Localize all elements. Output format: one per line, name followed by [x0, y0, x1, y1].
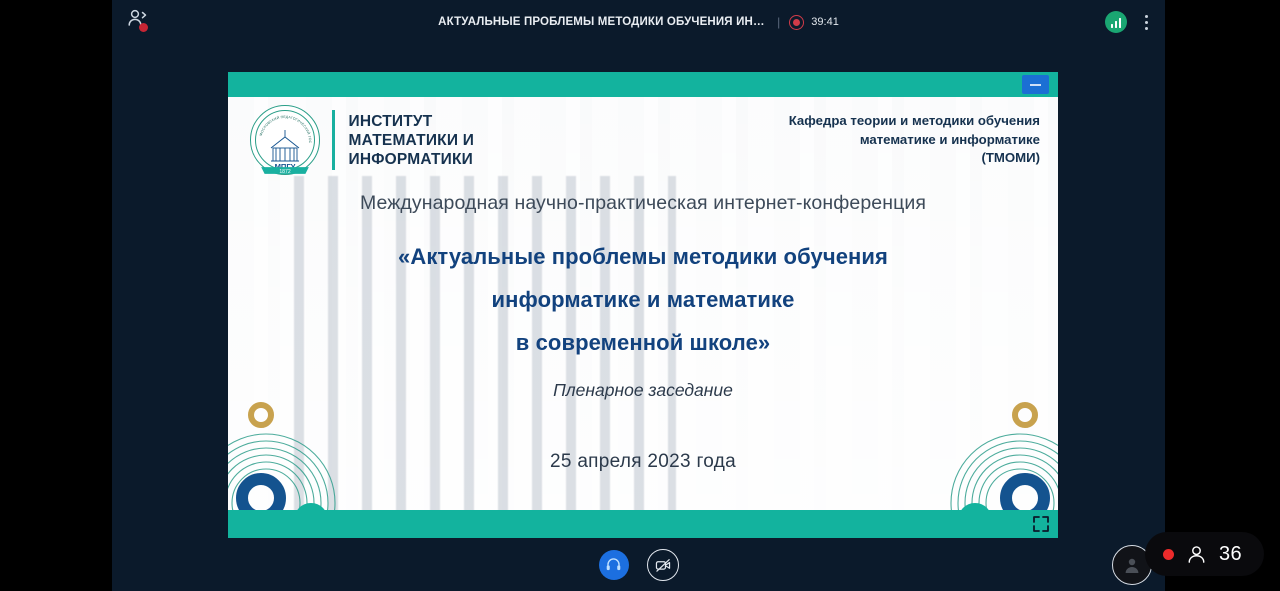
audio-button[interactable]	[599, 550, 629, 580]
recording-icon	[789, 15, 804, 30]
conference-title: «Актуальные проблемы методики обучения и…	[288, 235, 998, 364]
more-vertical-icon[interactable]	[1137, 11, 1155, 33]
shared-slide[interactable]: МОСКОВСКИЙ ПЕДАГОГИЧЕСКИЙ ГОС. МПГУ	[228, 72, 1058, 538]
seal-ribbon-icon: 1872	[254, 162, 316, 179]
fullscreen-expand-button[interactable]	[1032, 515, 1050, 533]
participants-pill[interactable]: 36	[1145, 532, 1264, 576]
meeting-title-group: АКТУАЛЬНЫЕ ПРОБЛЕМЫ МЕТОДИКИ ОБУЧЕНИЯ ИН…	[112, 0, 1165, 44]
headphones-icon	[605, 556, 622, 573]
svg-text:1872: 1872	[279, 169, 290, 175]
recording-status: 39:41	[789, 15, 839, 30]
mpgu-seal-logo: МОСКОВСКИЙ ПЕДАГОГИЧЕСКИЙ ГОС. МПГУ	[250, 105, 320, 175]
conference-subtitle: Пленарное заседание	[288, 380, 998, 401]
recording-timer: 39:41	[811, 16, 839, 28]
meeting-controls	[112, 538, 1165, 591]
title-divider: |	[777, 15, 780, 29]
top-bar: АКТУАЛЬНЫЕ ПРОБЛЕМЫ МЕТОДИКИ ОБУЧЕНИЯ ИН…	[112, 0, 1165, 44]
conference-date: 25 апреля 2023 года	[288, 451, 998, 473]
meeting-app: АКТУАЛЬНЫЕ ПРОБЛЕМЫ МЕТОДИКИ ОБУЧЕНИЯ ИН…	[112, 0, 1165, 591]
slide-top-band	[228, 72, 1058, 97]
notification-badge-dot	[139, 23, 148, 32]
slide-body: Международная научно-практическая интерн…	[228, 192, 1058, 473]
slide-bottom-band	[228, 510, 1058, 538]
slide-header: МОСКОВСКИЙ ПЕДАГОГИЧЕСКИЙ ГОС. МПГУ	[228, 97, 1058, 183]
fullscreen-expand-icon	[1032, 515, 1050, 533]
person-icon	[1186, 544, 1207, 565]
meeting-title: АКТУАЛЬНЫЕ ПРОБЛЕМЫ МЕТОДИКИ ОБУЧЕНИЯ ИН…	[438, 16, 768, 28]
recording-dot	[1163, 549, 1174, 560]
department-name: Кафедра теории и методики обучения матем…	[789, 112, 1040, 168]
minimize-button[interactable]	[1022, 75, 1049, 94]
letterbox-stage: АКТУАЛЬНЫЕ ПРОБЛЕМЫ МЕТОДИКИ ОБУЧЕНИЯ ИН…	[0, 0, 1280, 591]
top-bar-actions	[1105, 0, 1155, 44]
signal-bars-icon[interactable]	[1105, 11, 1127, 33]
camera-button[interactable]	[647, 549, 679, 581]
brand-divider	[332, 110, 335, 170]
institute-name: ИНСТИТУТ МАТЕМАТИКИ И ИНФОРМАТИКИ	[349, 112, 475, 169]
self-view-avatar	[1122, 555, 1142, 575]
conference-kicker: Международная научно-практическая интерн…	[288, 192, 998, 215]
invite-participant-button[interactable]	[127, 8, 157, 36]
institute-brand: МОСКОВСКИЙ ПЕДАГОГИЧЕСКИЙ ГОС. МПГУ	[250, 105, 474, 175]
participants-count: 36	[1219, 543, 1242, 566]
camera-off-icon	[654, 556, 672, 574]
svg-text:МОСКОВСКИЙ ПЕДАГОГИЧЕСКИЙ ГОС.: МОСКОВСКИЙ ПЕДАГОГИЧЕСКИЙ ГОС.	[251, 106, 312, 144]
minimize-dash-icon	[1030, 84, 1041, 86]
